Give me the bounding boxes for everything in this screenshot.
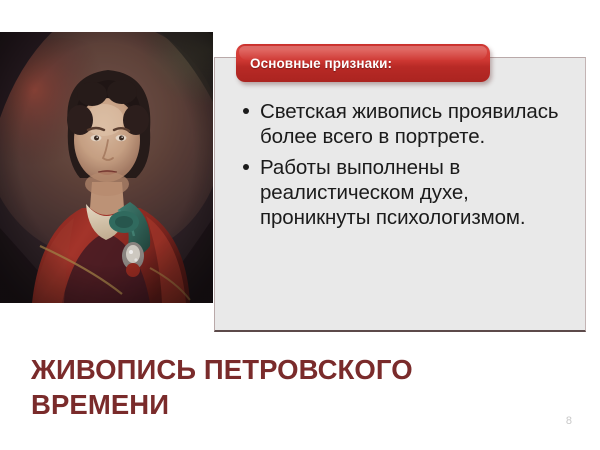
section-header-label: Основные признаки:	[236, 56, 392, 71]
list-item-text: Работы выполнены в реалистическом духе, …	[260, 156, 526, 230]
slide-canvas: Основные признаки: Светская живопись про…	[0, 0, 600, 450]
portrait-image	[0, 32, 213, 303]
page-number: 8	[566, 415, 572, 427]
section-header-banner: Основные признаки:	[236, 44, 490, 82]
bullet-dot-icon	[243, 108, 249, 114]
portrait-illustration	[0, 32, 213, 303]
list-item: Работы выполнены в реалистическом духе, …	[238, 155, 578, 231]
slide-title: ЖИВОПИСЬ ПЕТРОВСКОГО ВРЕМЕНИ	[31, 353, 481, 423]
bullet-dot-icon	[243, 164, 249, 170]
list-item: Светская живопись проявилась более всего…	[238, 99, 578, 150]
list-item-text: Светская живопись проявилась более всего…	[260, 100, 558, 148]
bullet-list: Светская живопись проявилась более всего…	[238, 99, 578, 236]
